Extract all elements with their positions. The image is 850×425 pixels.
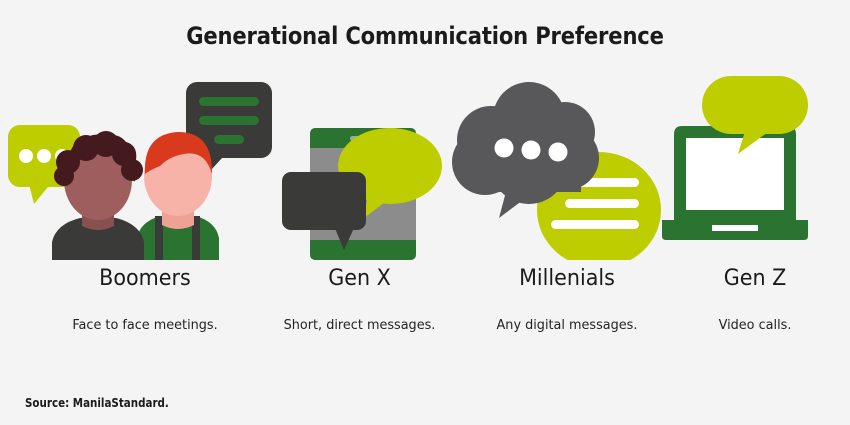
generation-label-gen-x: Gen X bbox=[277, 266, 442, 291]
generation-label-gen-z: Gen Z bbox=[666, 266, 845, 291]
generation-column-gen-z: Gen Z Video calls. bbox=[660, 70, 850, 350]
boomers-illustration bbox=[0, 70, 290, 260]
generation-label-boomers: Boomers bbox=[9, 266, 282, 291]
person-left-icon bbox=[52, 131, 144, 260]
infographic-canvas: Generational Communication Preference bbox=[0, 0, 850, 425]
gen-z-illustration bbox=[660, 70, 850, 260]
generation-description-millenials: Any digital messages. bbox=[453, 317, 681, 333]
millenials-illustration bbox=[447, 70, 687, 260]
generation-column-boomers: Boomers Face to face meetings. bbox=[0, 70, 290, 350]
gen-x-illustration bbox=[272, 70, 447, 260]
generation-columns: Boomers Face to face meetings. bbox=[0, 70, 850, 350]
generation-label-millenials: Millenials bbox=[454, 266, 680, 291]
generation-column-millenials: Millenials Any digital messages. bbox=[447, 70, 687, 350]
generation-column-gen-x: Gen X Short, direct messages. bbox=[272, 70, 447, 350]
source-attribution: Source: ManilaStandard. bbox=[25, 396, 169, 410]
generation-description-boomers: Face to face meetings. bbox=[7, 317, 283, 333]
laptop-icon bbox=[662, 126, 808, 240]
generation-description-gen-x: Short, direct messages. bbox=[276, 317, 442, 333]
generation-description-gen-z: Video calls. bbox=[665, 317, 846, 333]
person-right-icon bbox=[137, 132, 219, 260]
page-title: Generational Communication Preference bbox=[51, 22, 799, 50]
